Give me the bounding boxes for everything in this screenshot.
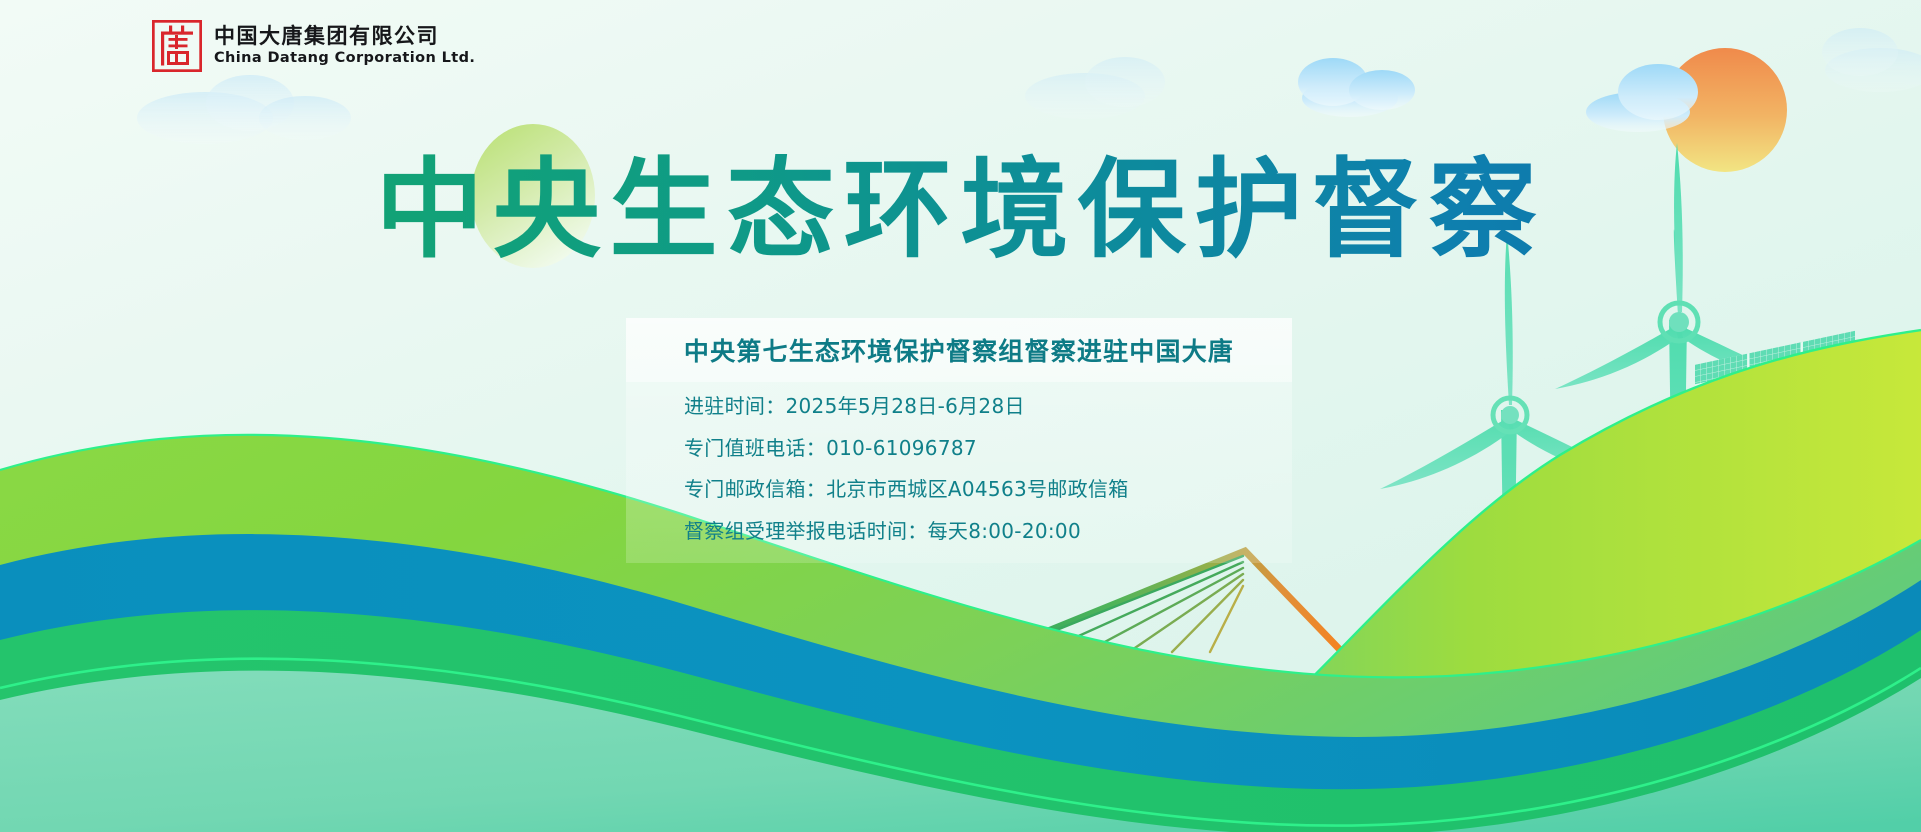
logo-company-name-en: China Datang Corporation Ltd. bbox=[214, 50, 475, 67]
datang-seal-tang-character-icon bbox=[152, 20, 202, 72]
subtitle-band: 中央第七生态环境保护督察组督察进驻中国大唐 bbox=[626, 318, 1292, 382]
logo-company-name-cn: 中国大唐集团有限公司 bbox=[214, 25, 475, 49]
subtitle-text: 中央第七生态环境保护督察组督察进驻中国大唐 bbox=[684, 332, 1234, 368]
info-line-visit-period: 进驻时间：2025年5月28日-6月28日 bbox=[684, 395, 1129, 417]
company-logo: 中国大唐集团有限公司 China Datang Corporation Ltd. bbox=[152, 20, 475, 72]
info-line-hotline-hours: 督察组受理举报电话时间：每天8:00-20:00 bbox=[684, 520, 1129, 542]
logo-text-block: 中国大唐集团有限公司 China Datang Corporation Ltd. bbox=[214, 25, 475, 66]
info-lines-list: 进驻时间：2025年5月28日-6月28日 专门值班电话：010-6109678… bbox=[684, 395, 1129, 542]
poster-banner: 中国大唐集团有限公司 China Datang Corporation Ltd.… bbox=[0, 0, 1921, 832]
page-title: 中央生态环境保护督察 bbox=[0, 152, 1921, 269]
info-line-postal-address: 专门邮政信箱：北京市西城区A04563号邮政信箱 bbox=[684, 478, 1129, 500]
info-line-hotline: 专门值班电话：010-61096787 bbox=[684, 437, 1129, 459]
